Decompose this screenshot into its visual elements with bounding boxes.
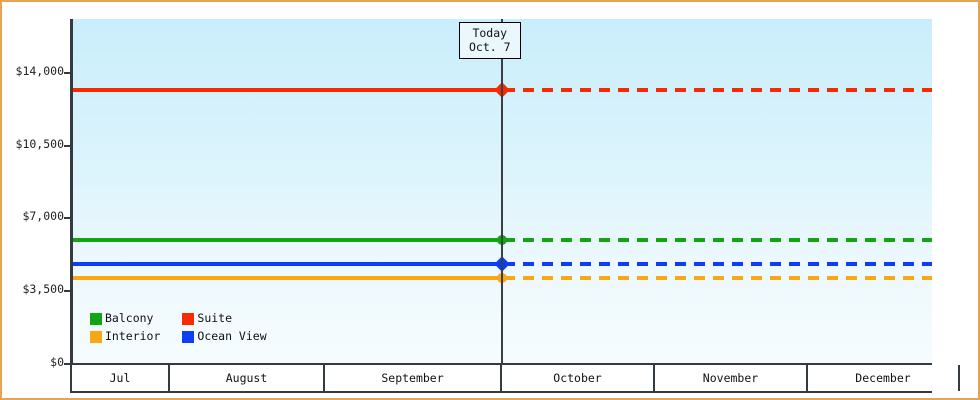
x-axis-month-cell[interactable]: November [655,365,808,391]
y-axis-line [70,19,73,365]
y-tick-label: $10,500 [16,139,64,150]
y-tick-label: $0 [50,357,64,368]
chart-legend: Balcony Suite Interior Ocean View [90,312,267,343]
x-axis-month-label: November [703,371,758,385]
series-line-suite-actual [72,88,502,92]
legend-label-suite: Suite [197,312,232,325]
today-label-line1: Today [469,26,511,40]
y-tick-label: $14,000 [16,66,64,77]
legend-item-interior[interactable]: Interior [90,330,160,343]
series-line-balcony-forecast [504,238,932,242]
legend-item-balcony[interactable]: Balcony [90,312,160,325]
x-axis-month-label: December [855,371,910,385]
series-line-suite-forecast [504,88,932,92]
x-axis-month-table: Jul August September October November De… [70,365,932,393]
legend-item-ocean-view[interactable]: Ocean View [182,330,266,343]
series-line-balcony-actual [72,238,502,242]
today-label-line2: Oct. 7 [469,40,511,54]
legend-label-balcony: Balcony [105,312,153,325]
x-axis-month-label: September [381,371,443,385]
x-axis-month-label: August [226,371,268,385]
x-axis-month-label: October [553,371,601,385]
legend-label-ocean-view: Ocean View [197,330,266,343]
y-tick-label: $3,500 [22,284,64,295]
x-axis-month-cell[interactable]: August [170,365,325,391]
x-axis-month-cell[interactable]: September [325,365,502,391]
x-axis-month-label: Jul [110,371,131,385]
legend-label-interior: Interior [105,330,160,343]
today-label-box: Today Oct. 7 [459,22,521,59]
chart-frame: $14,000 $10,500 $7,000 $3,500 $0 [0,0,980,400]
legend-swatch-interior [90,331,102,343]
legend-swatch-suite [182,313,194,325]
y-tick-label: $7,000 [22,211,64,222]
series-line-ocean-view-actual [72,262,502,266]
series-line-interior-forecast [504,276,932,280]
series-line-interior-actual [72,276,502,280]
x-axis-month-cell[interactable]: December [808,365,960,391]
today-vertical-line [501,19,503,365]
legend-swatch-balcony [90,313,102,325]
x-axis-month-cell[interactable]: Jul [70,365,170,391]
legend-item-suite[interactable]: Suite [182,312,266,325]
x-axis-month-cell[interactable]: October [502,365,655,391]
series-line-ocean-view-forecast [504,262,932,266]
legend-swatch-ocean-view [182,331,194,343]
